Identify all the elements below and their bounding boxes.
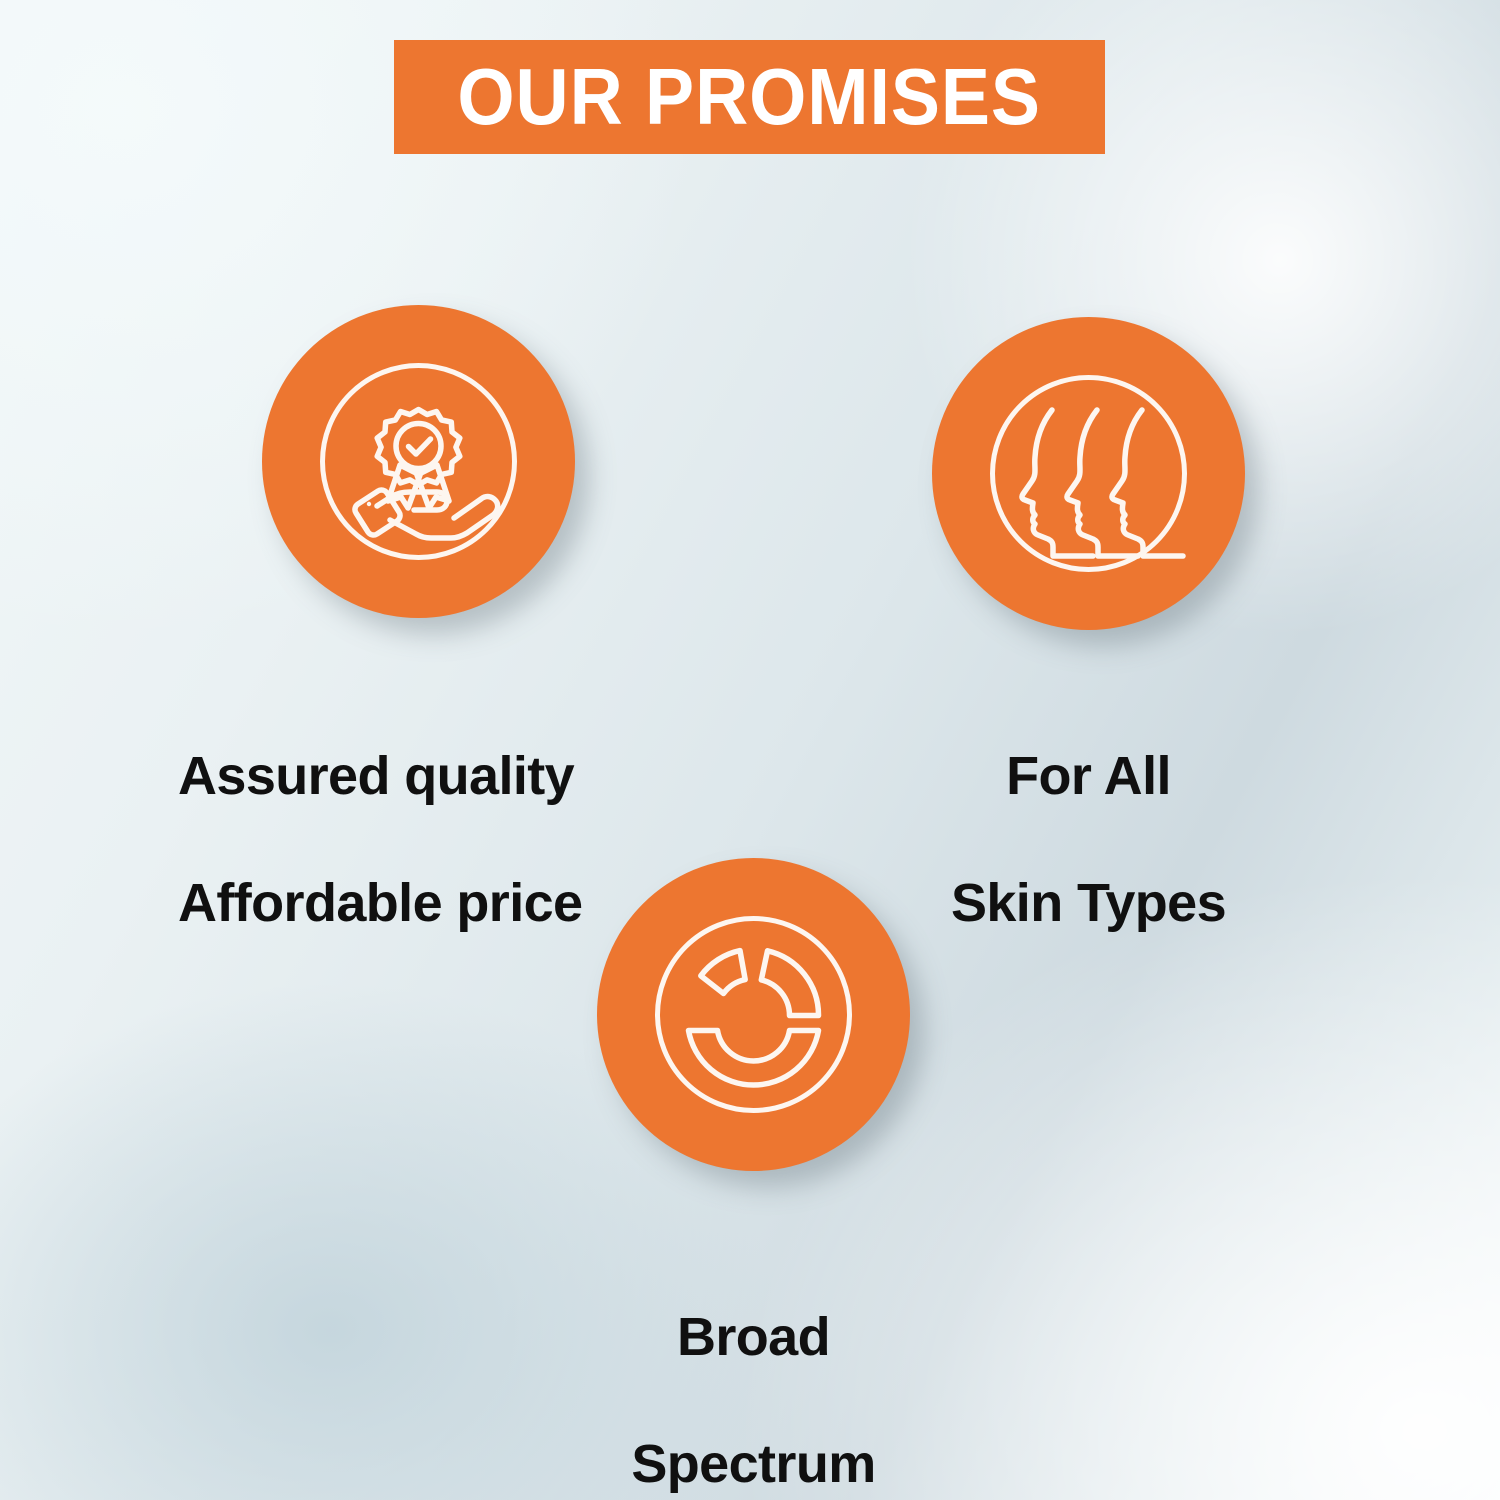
promise-item-broad-spectrum[interactable] <box>597 858 910 1171</box>
promise-icon-circle <box>932 317 1245 630</box>
promise-icon-circle <box>262 305 575 618</box>
header-banner: OUR PROMISES <box>394 40 1105 154</box>
promise-item-assured-quality[interactable] <box>262 305 575 618</box>
caption-line-1: Broad <box>597 1306 910 1369</box>
promise-icon-circle <box>597 858 910 1171</box>
promises-infographic: OUR PROMISES <box>0 0 1500 1500</box>
segmented-donut-spectrum-icon <box>597 858 910 1171</box>
caption-line-2: Affordable price <box>178 872 582 935</box>
page-title: OUR PROMISES <box>458 57 1042 137</box>
promise-caption-all-skin-types: For All Skin Types <box>932 682 1245 998</box>
caption-line-1: For All <box>932 745 1245 808</box>
caption-line-1: Assured quality <box>178 745 582 808</box>
hand-holding-quality-badge-icon <box>262 305 575 618</box>
promise-caption-assured-quality: Assured quality Affordable price <box>178 682 582 998</box>
three-face-profiles-icon <box>932 317 1245 630</box>
promise-caption-broad-spectrum: Broad Spectrum <box>597 1243 910 1500</box>
caption-line-2: Skin Types <box>932 872 1245 935</box>
promise-item-all-skin-types[interactable] <box>932 317 1245 630</box>
caption-line-2: Spectrum <box>597 1433 910 1496</box>
